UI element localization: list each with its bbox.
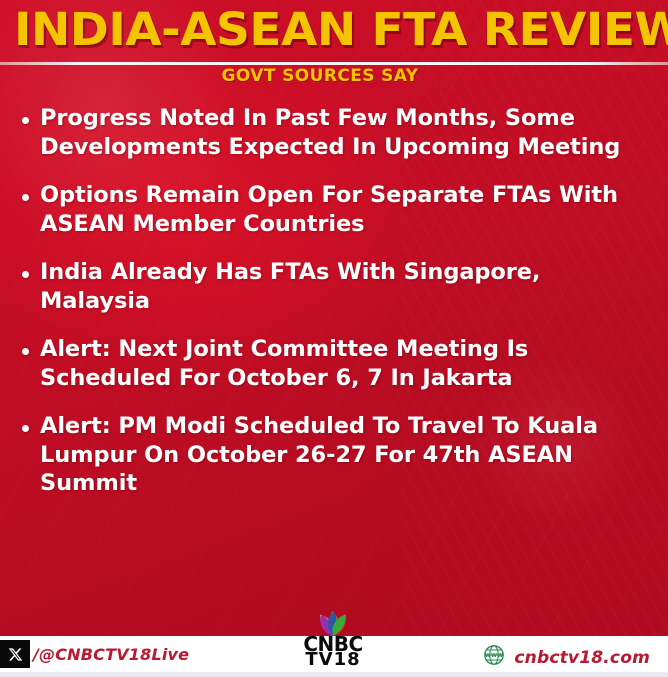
list-item: Alert: PM Modi Scheduled To Travel To Ku… [0, 412, 668, 498]
bullet-dot-icon [22, 271, 29, 278]
list-item: India Already Has FTAs With Singapore, M… [0, 258, 668, 315]
header-subtitle: GOVT SOURCES SAY [0, 66, 640, 86]
social-handle[interactable]: /@CNBCTV18Live [0, 640, 189, 668]
bullet-text: Alert: Next Joint Committee Meeting Is S… [40, 335, 652, 392]
footer-bar: /@CNBCTV18Live www cnbctv18.com [0, 636, 668, 677]
website-text[interactable]: cnbctv18.com [514, 648, 650, 668]
bullet-dot-icon [22, 194, 29, 201]
www-globe-icon: www [483, 644, 505, 671]
svg-text:www: www [485, 651, 503, 659]
list-item: Progress Noted In Past Few Months, Some … [0, 104, 668, 161]
list-item: Options Remain Open For Separate FTAs Wi… [0, 181, 668, 238]
bullet-text: Alert: PM Modi Scheduled To Travel To Ku… [40, 412, 652, 498]
list-item: Alert: Next Joint Committee Meeting Is S… [0, 335, 668, 392]
bullet-list: Progress Noted In Past Few Months, Some … [0, 104, 668, 518]
website-link[interactable]: www cnbctv18.com [483, 644, 650, 671]
bullet-dot-icon [22, 348, 29, 355]
header: INDIA-ASEAN FTA REVIEW GOVT SOURCES SAY [0, 0, 668, 92]
bullet-text: Options Remain Open For Separate FTAs Wi… [40, 181, 652, 238]
x-twitter-icon[interactable] [0, 640, 30, 668]
news-graphic: INDIA-ASEAN FTA REVIEW GOVT SOURCES SAY … [0, 0, 668, 677]
bullet-text: Progress Noted In Past Few Months, Some … [40, 104, 652, 161]
footer-bottom-strip [0, 672, 668, 677]
bullet-dot-icon [22, 117, 29, 124]
bullet-dot-icon [22, 425, 29, 432]
bullet-text: India Already Has FTAs With Singapore, M… [40, 258, 652, 315]
page-title: INDIA-ASEAN FTA REVIEW [14, 4, 668, 56]
header-divider [0, 62, 668, 65]
social-handle-text[interactable]: /@CNBCTV18Live [33, 645, 189, 664]
